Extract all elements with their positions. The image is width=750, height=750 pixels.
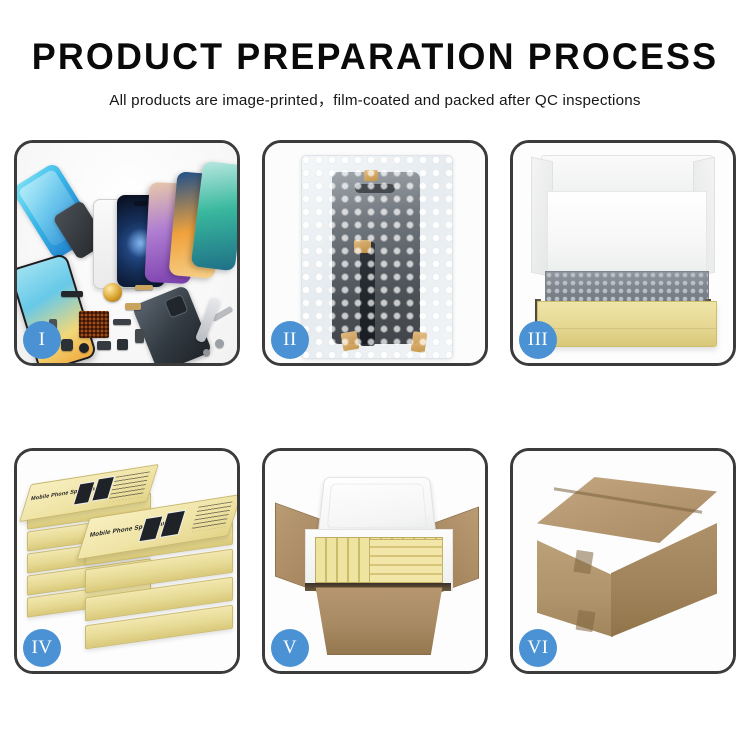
spare-part: [215, 339, 224, 348]
spare-part: [135, 285, 153, 290]
step-badge-2: II: [271, 321, 309, 359]
spare-part: [61, 291, 83, 297]
foam-lid-open: [317, 477, 436, 537]
tape-piece: [411, 331, 428, 353]
tape-piece: [354, 240, 371, 253]
step-badge-6: VI: [519, 629, 557, 667]
step-badge-4: IV: [23, 629, 61, 667]
copper-mesh-part: [79, 311, 109, 338]
tape-piece: [364, 170, 378, 181]
tape-piece: [341, 331, 360, 352]
spare-part: [113, 319, 131, 325]
box-label-phone-image: [159, 510, 186, 538]
box-label-phone-image: [138, 515, 163, 542]
flex-cable: [360, 242, 375, 346]
process-step-panel-1: I: [14, 140, 240, 366]
spare-part: [117, 339, 128, 350]
process-step-panel-4: Mobile Phone Spare Parts Mobile Phone Sp…: [14, 448, 240, 674]
gold-speaker-part: [103, 283, 122, 302]
carton-left-face: [537, 527, 613, 637]
process-step-panel-2: II: [262, 140, 488, 366]
step-badge-1: I: [23, 321, 61, 359]
process-step-panel-5: V: [262, 448, 488, 674]
process-step-panel-3: III: [510, 140, 736, 366]
box-label-spec-lines: [191, 501, 233, 532]
box-label-phone-image: [73, 481, 96, 506]
step-badge-3: III: [519, 321, 557, 359]
spare-part: [135, 329, 144, 343]
spare-part: [125, 303, 141, 310]
carton-tape-patch: [576, 610, 596, 632]
carton-tape-patch: [573, 550, 593, 574]
yellow-box-front: [537, 301, 717, 347]
spare-part: [97, 341, 111, 350]
spare-part: [61, 339, 73, 351]
wrapped-screen: [332, 172, 420, 344]
process-step-grid: I II III: [14, 140, 736, 674]
carton-right-face: [611, 523, 717, 637]
yellow-box-stack: Mobile Phone Spare Parts Mobile Phone Sp…: [25, 467, 235, 659]
page-title: PRODUCT PREPARATION PROCESS: [11, 38, 739, 75]
white-foam-sheet: [547, 191, 707, 275]
yellow-boxes-inside: [369, 539, 443, 583]
page-header: PRODUCT PREPARATION PROCESS All products…: [0, 0, 750, 110]
bubble-wrapped-contents: [545, 271, 709, 305]
step-badge-5: V: [271, 629, 309, 667]
spare-part: [79, 343, 89, 353]
bubble-wrap-bag: [301, 155, 453, 359]
page-subtitle: All products are image-printed，film-coat…: [0, 88, 750, 110]
spare-part: [203, 349, 210, 356]
carton-body: [307, 587, 451, 655]
process-step-panel-6: VI: [510, 448, 736, 674]
